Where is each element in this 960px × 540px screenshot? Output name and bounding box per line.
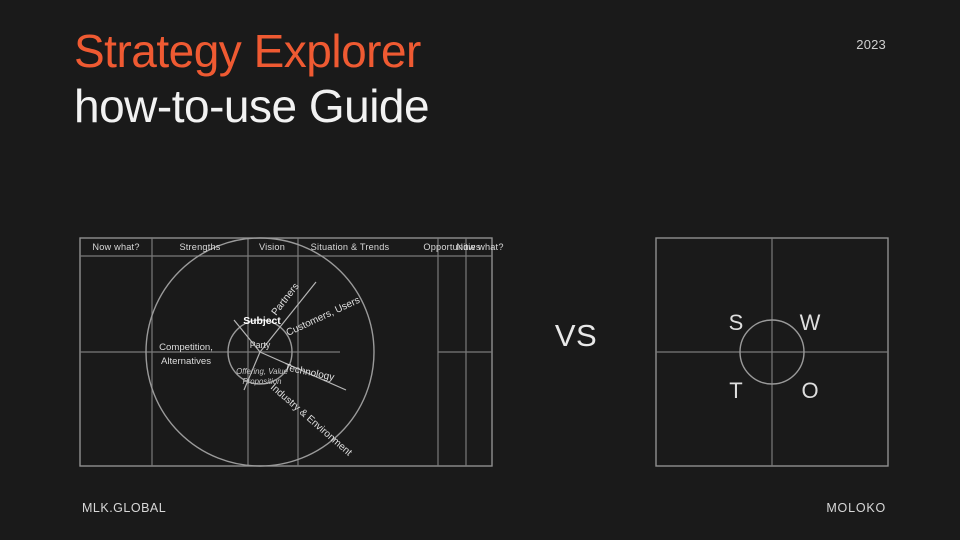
versus-label: VS bbox=[548, 318, 604, 354]
strategy-explorer-diagram: Now what? Strengths Vision Situation & T… bbox=[72, 228, 500, 478]
explorer-col-header-0: Now what? bbox=[92, 242, 139, 252]
swot-quadrant-strengths: S bbox=[729, 310, 744, 335]
strategy-explorer-svg: Now what? Strengths Vision Situation & T… bbox=[72, 228, 500, 478]
swot-svg: S W T O bbox=[648, 228, 896, 478]
page-title: Strategy Explorer how-to-use Guide bbox=[74, 28, 429, 129]
swot-quadrant-weaknesses: W bbox=[800, 310, 821, 335]
explorer-col-header-3: Situation & Trends bbox=[311, 242, 390, 252]
explorer-left-label-line1: Competition, bbox=[159, 342, 213, 353]
explorer-left-label-line2: Alternatives bbox=[161, 356, 211, 367]
explorer-col-header-1: Strengths bbox=[179, 242, 220, 252]
explorer-radial-label-industry: Industry & Environment bbox=[268, 382, 354, 459]
slide-canvas: Strategy Explorer how-to-use Guide 2023 bbox=[0, 0, 960, 540]
explorer-center-party: Party bbox=[250, 340, 271, 350]
title-line-secondary: how-to-use Guide bbox=[74, 83, 429, 129]
swot-quadrant-threats: T bbox=[729, 378, 742, 403]
explorer-radial-label-partners: Partners bbox=[270, 281, 302, 318]
swot-diagram: S W T O bbox=[648, 228, 896, 478]
title-line-primary: Strategy Explorer bbox=[74, 28, 429, 74]
swot-quadrant-opportunities: O bbox=[801, 378, 818, 403]
footer-brand-left: MLK.GLOBAL bbox=[82, 501, 166, 515]
explorer-radial-label-technology: Technology bbox=[283, 362, 335, 383]
footer-brand-right: MOLOKO bbox=[826, 501, 886, 515]
explorer-col-header-5: Now what? bbox=[456, 242, 503, 252]
explorer-center-subject: Subject bbox=[243, 316, 281, 327]
explorer-center-offering-line1: Offering, Value bbox=[236, 367, 288, 376]
explorer-col-header-2: Vision bbox=[259, 242, 285, 252]
year-label: 2023 bbox=[856, 37, 886, 52]
explorer-radial-label-customers: Customers, Users bbox=[285, 295, 362, 339]
